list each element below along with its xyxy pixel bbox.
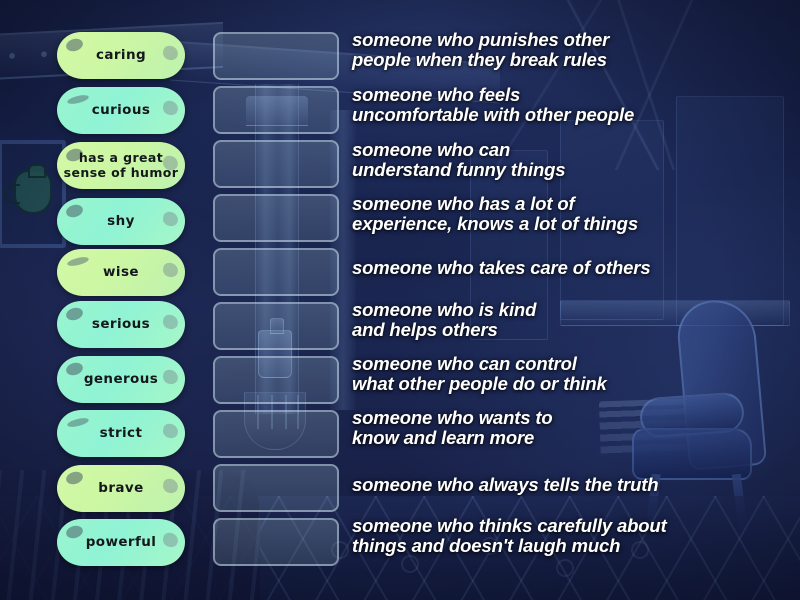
definition-text: someone who can understand funny things	[352, 140, 796, 181]
word-tile-label: powerful	[80, 535, 163, 550]
definition-text: someone who punishes other people when t…	[352, 30, 796, 71]
word-tile-label: generous	[78, 372, 164, 387]
word-tile-label: has a great sense of humor	[57, 151, 185, 180]
word-tile-label: strict	[94, 426, 149, 441]
word-tile-label: caring	[90, 48, 152, 63]
word-tile-label: serious	[86, 317, 156, 332]
word-tile-label: brave	[92, 481, 149, 496]
definition-text: someone who has a lot of experience, kno…	[352, 194, 796, 235]
word-tile-label: shy	[101, 214, 141, 229]
definition-text: someone who always tells the truth	[352, 475, 796, 495]
definition-text: someone who thinks carefully about thing…	[352, 516, 796, 557]
definition-text: someone who takes care of others	[352, 258, 796, 278]
activity-stage: caringcurioushas a great sense of humors…	[0, 0, 800, 600]
definition-text: someone who feels uncomfortable with oth…	[352, 85, 796, 126]
definition-text: someone who wants to know and learn more	[352, 408, 796, 449]
definition-text: someone who can control what other peopl…	[352, 354, 796, 395]
definition-text: someone who is kind and helps others	[352, 300, 796, 341]
definition-column: someone who punishes other people when t…	[0, 0, 800, 600]
word-tile-label: wise	[97, 265, 145, 280]
word-tile-label: curious	[86, 103, 157, 118]
